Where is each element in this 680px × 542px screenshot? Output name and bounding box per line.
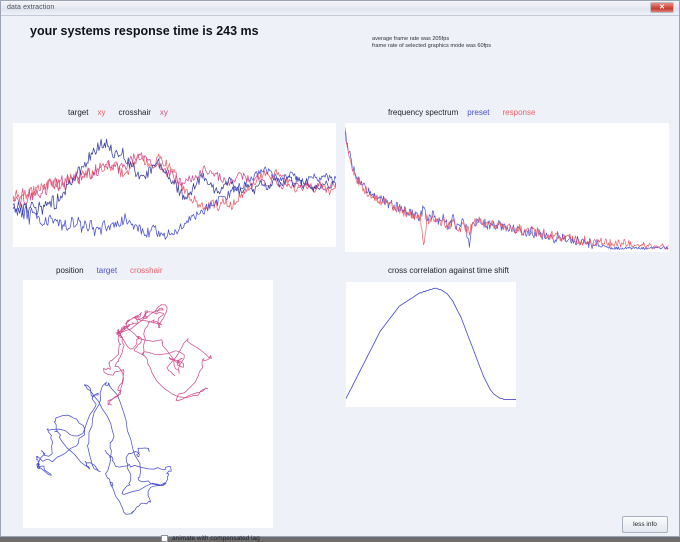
crosscorr-caption: cross correlation against time shift xyxy=(388,266,509,275)
timeseries-title: target xyxy=(68,108,88,117)
timeseries-svg xyxy=(13,123,336,247)
graphics-mode-frame-rate-text: frame rate of selected graphics mode was… xyxy=(372,43,491,50)
animate-compensated-lag-row[interactable]: animate with compensated lag xyxy=(161,535,260,542)
less-info-button[interactable]: less info xyxy=(622,516,668,533)
position-legend-target: target xyxy=(97,266,117,275)
position-title: position xyxy=(56,266,84,275)
app-window: data extraction ✕ your systems response … xyxy=(0,0,680,537)
animate-compensated-lag-label: animate with compensated lag xyxy=(172,535,260,542)
timeseries-caption: targetxycrosshairxy xyxy=(68,108,168,117)
position-svg xyxy=(23,280,273,528)
spectrum-title: frequency spectrum xyxy=(388,108,458,117)
close-icon[interactable]: ✕ xyxy=(650,2,674,13)
crosscorr-title: cross correlation against time shift xyxy=(388,266,509,275)
spectrum-legend-response: response xyxy=(503,108,536,117)
chart-cross-correlation[interactable] xyxy=(346,282,516,407)
frame-rate-stats: average frame rate was 205fps frame rate… xyxy=(372,36,491,50)
timeseries-legend-target-xy: xy xyxy=(97,108,105,117)
average-frame-rate-text: average frame rate was 205fps xyxy=(372,36,491,43)
spectrum-caption: frequency spectrumpresetresponse xyxy=(388,108,535,117)
chart-timeseries[interactable] xyxy=(13,123,336,247)
client-area: your systems response time is 243 ms ave… xyxy=(1,16,679,536)
timeseries-title-2: crosshair xyxy=(118,108,150,117)
chart-frequency-spectrum[interactable] xyxy=(345,123,669,252)
title-bar: data extraction ✕ xyxy=(1,1,679,16)
animate-compensated-lag-checkbox[interactable] xyxy=(161,535,168,542)
window-title: data extraction xyxy=(7,3,54,12)
timeseries-legend-crosshair-xy: xy xyxy=(160,108,168,117)
chart-position[interactable] xyxy=(23,280,273,528)
spectrum-svg xyxy=(345,123,669,252)
crosscorr-svg xyxy=(346,282,516,407)
page-title: your systems response time is 243 ms xyxy=(30,24,259,38)
spectrum-legend-preset: preset xyxy=(467,108,489,117)
position-caption: positiontargetcrosshair xyxy=(56,266,163,275)
position-legend-crosshair: crosshair xyxy=(130,266,162,275)
